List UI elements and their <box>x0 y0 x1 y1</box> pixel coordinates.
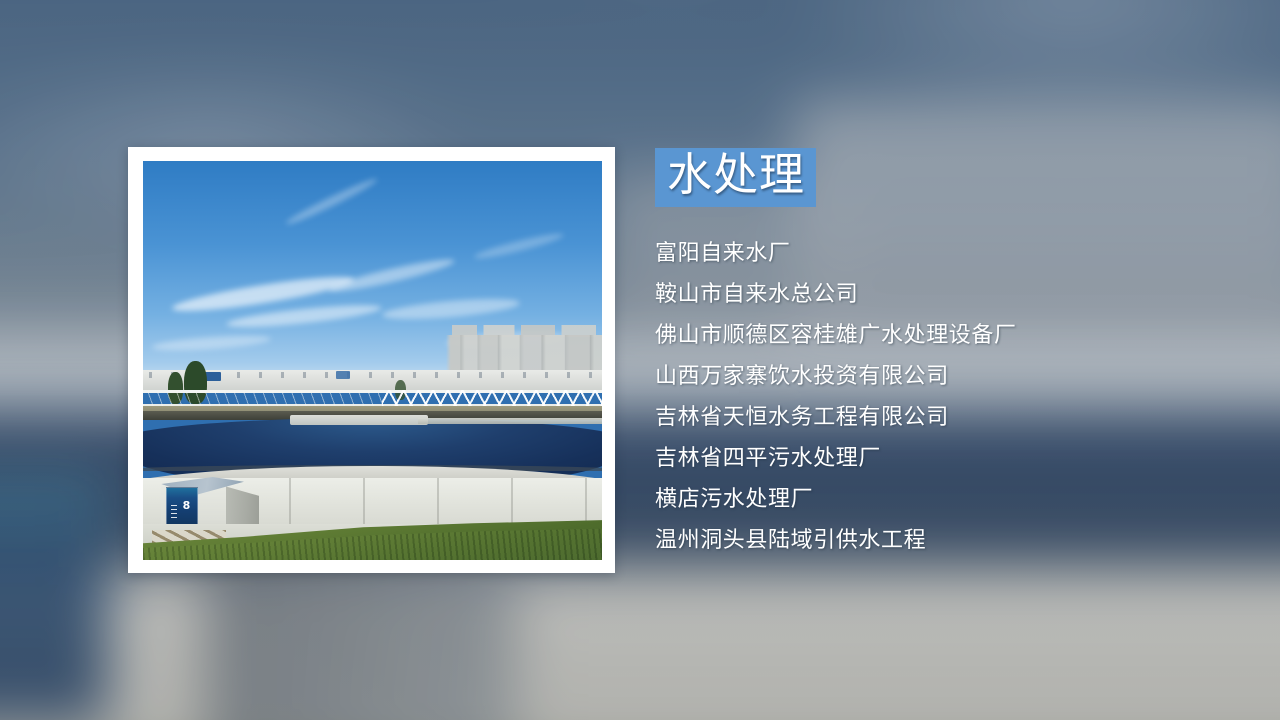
sign-number: 8 <box>183 500 191 511</box>
photo-truss-lattice <box>382 390 602 407</box>
sign-text-bars <box>171 505 176 520</box>
photo-frame: 8 <box>128 147 615 573</box>
photo-basin-pier <box>418 418 602 424</box>
slide-root: 8 水处理 富阳自来水厂 鞍山市自来水总公司 佛山市顺德区容桂雄广水处理设备厂 … <box>0 0 1280 720</box>
list-item: 佛山市顺德区容桂雄广水处理设备厂 <box>655 315 1255 356</box>
photo-basin-platform <box>290 415 428 425</box>
list-item: 吉林省天恒水务工程有限公司 <box>655 397 1255 438</box>
list-item: 山西万家寨饮水投资有限公司 <box>655 356 1255 397</box>
text-column: 水处理 富阳自来水厂 鞍山市自来水总公司 佛山市顺德区容桂雄广水处理设备厂 山西… <box>655 148 1255 561</box>
list-item: 富阳自来水厂 <box>655 233 1255 274</box>
client-list: 富阳自来水厂 鞍山市自来水总公司 佛山市顺德区容桂雄广水处理设备厂 山西万家寨饮… <box>655 233 1255 561</box>
section-title: 水处理 <box>667 151 805 200</box>
water-treatment-plant-photo: 8 <box>143 161 602 560</box>
photo-blue-structure-2 <box>336 371 351 379</box>
blue-sign-panel: 8 <box>166 487 198 527</box>
list-item: 温州洞头县陆域引供水工程 <box>655 520 1255 561</box>
section-title-highlight: 水处理 <box>655 148 816 207</box>
list-item: 鞍山市自来水总公司 <box>655 274 1255 315</box>
list-item: 横店污水处理厂 <box>655 479 1255 520</box>
list-item: 吉林省四平污水处理厂 <box>655 438 1255 479</box>
photo-walkway-railing <box>143 391 382 406</box>
